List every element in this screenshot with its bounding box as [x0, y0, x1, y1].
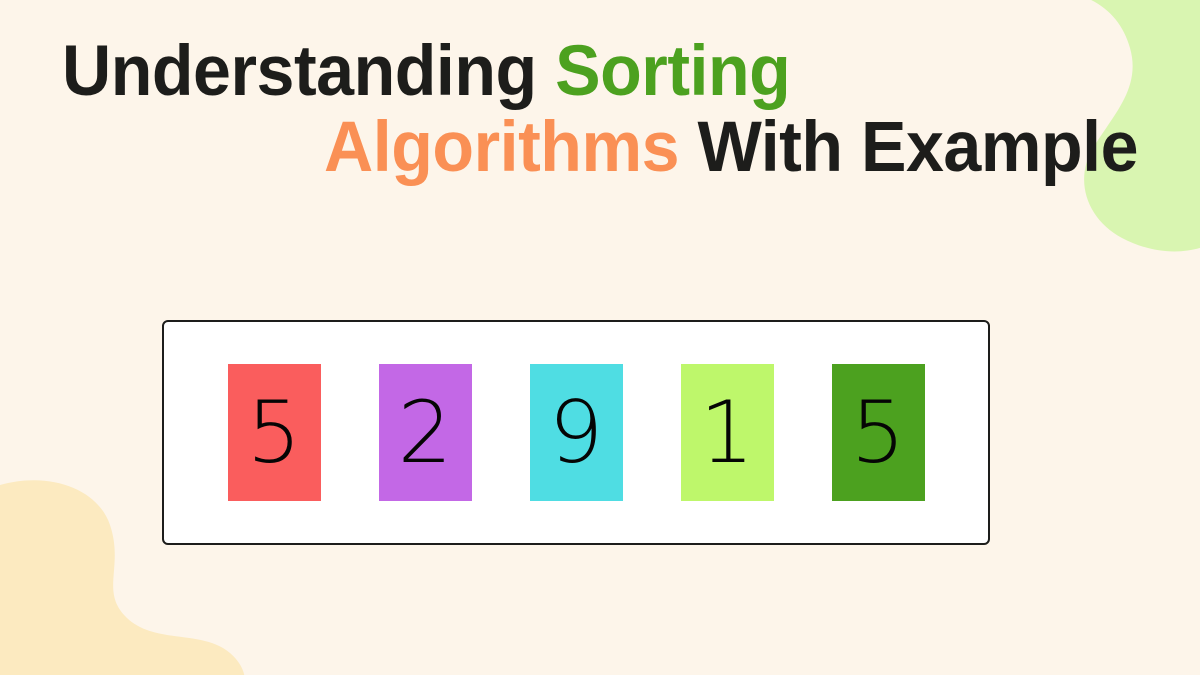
title-word-algorithms: Algorithms: [324, 108, 697, 187]
title-word-sorting: Sorting: [555, 32, 790, 111]
title-line-1: Understanding Sorting: [62, 34, 1095, 110]
slide-canvas: Understanding Sorting Algorithms With Ex…: [0, 0, 1200, 675]
array-card-value: 9: [549, 390, 604, 476]
array-card-value: 5: [851, 390, 906, 476]
array-card[interactable]: 1: [681, 364, 774, 501]
array-card-value: 1: [700, 390, 755, 476]
title-line-2: Algorithms With Example: [105, 110, 1138, 186]
array-card[interactable]: 5: [228, 364, 321, 501]
array-panel: 5 2 9 1 5: [162, 320, 990, 545]
array-card-value: 5: [247, 390, 302, 476]
array-card[interactable]: 5: [832, 364, 925, 501]
title-word-with-example: With Example: [697, 108, 1138, 187]
array-card-value: 2: [398, 390, 453, 476]
title-word-understanding: Understanding: [62, 32, 555, 111]
array-card[interactable]: 9: [530, 364, 623, 501]
page-title: Understanding Sorting Algorithms With Ex…: [0, 34, 1200, 186]
array-card[interactable]: 2: [379, 364, 472, 501]
